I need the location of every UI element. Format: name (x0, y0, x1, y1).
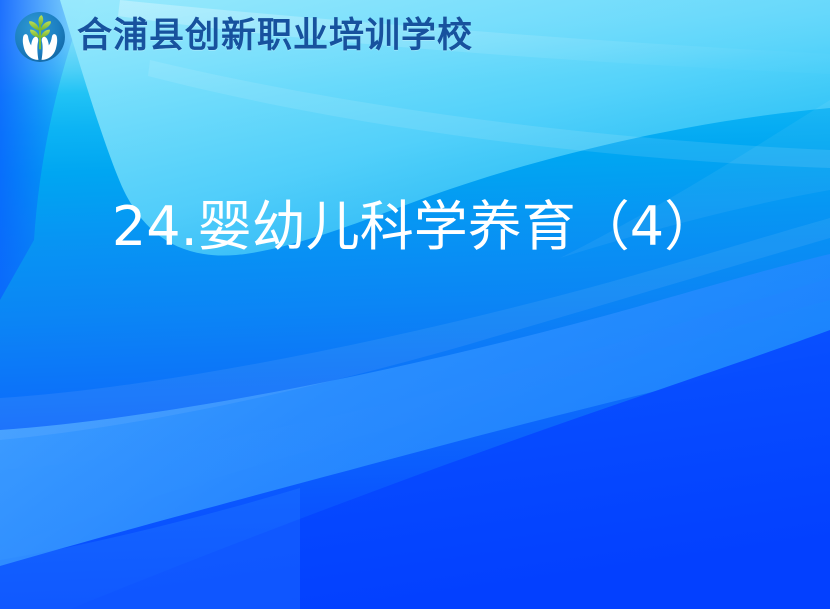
presentation-slide: 合浦县创新职业培训学校 24.婴幼儿科学养育（4） (0, 0, 830, 609)
slide-title: 24.婴幼儿科学养育（4） (112, 196, 718, 258)
slide-header: 合浦县创新职业培训学校 (0, 0, 830, 72)
school-name-title: 合浦县创新职业培训学校 (77, 19, 473, 54)
background-decoration (0, 0, 830, 609)
slide-title-container: 24.婴幼儿科学养育（4） (0, 196, 830, 258)
hands-holding-sprout-logo-icon (14, 11, 66, 63)
